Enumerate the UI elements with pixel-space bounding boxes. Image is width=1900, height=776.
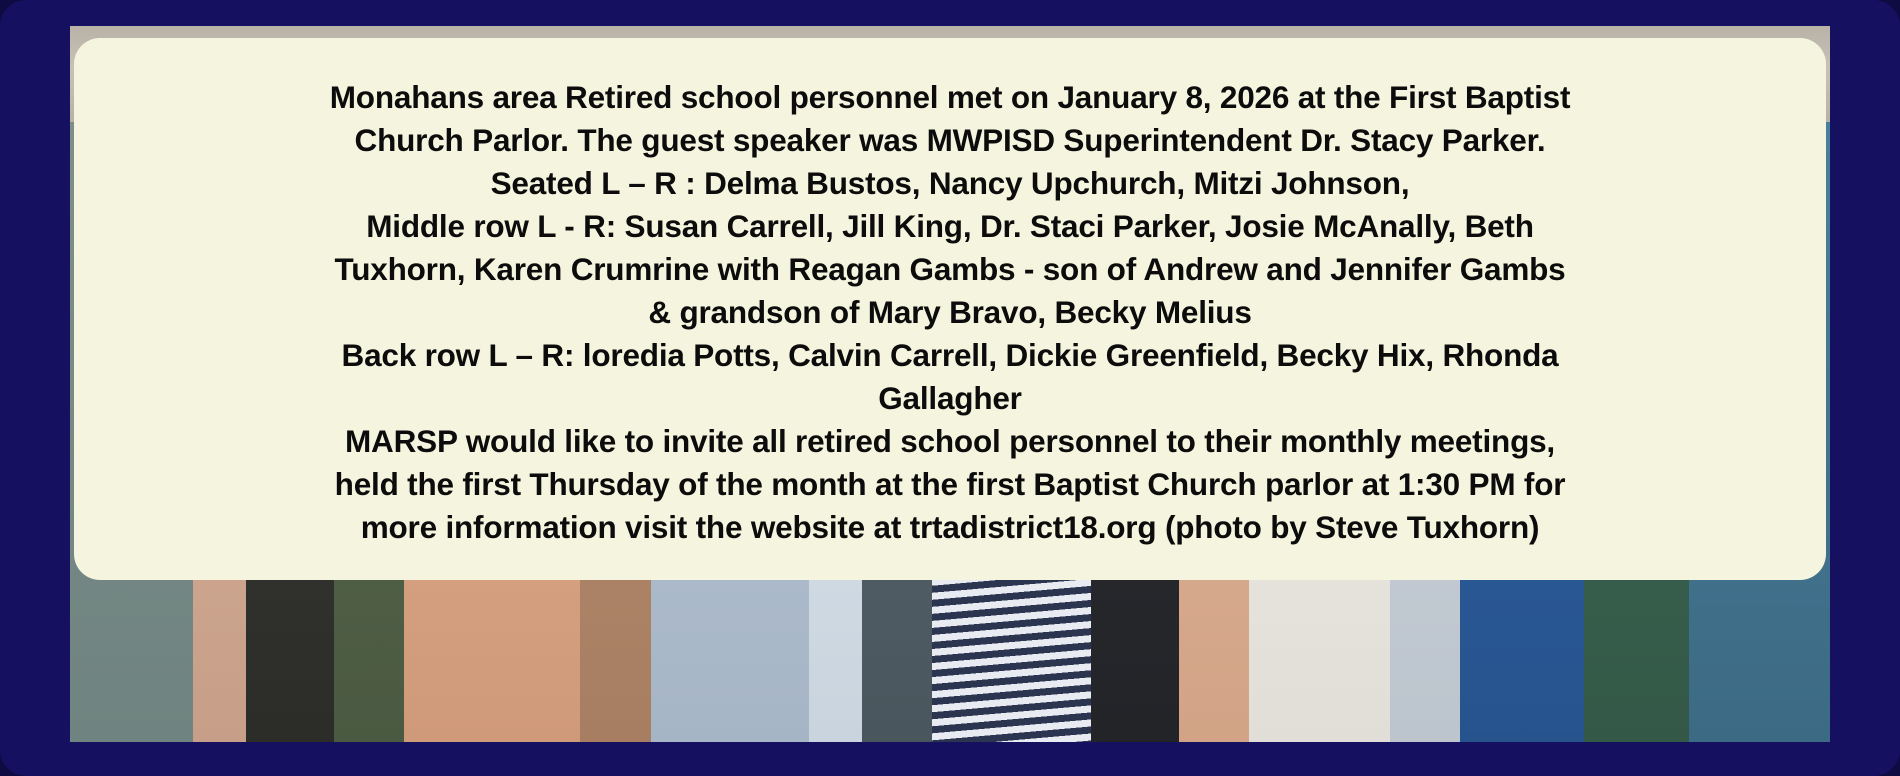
announcement-line: & grandson of Mary Bravo, Becky Melius	[100, 291, 1800, 334]
announcement-line: Monahans area Retired school personnel m…	[100, 76, 1800, 119]
announcement-text: Monahans area Retired school personnel m…	[100, 76, 1800, 549]
announcement-line: Back row L – R: loredia Potts, Calvin Ca…	[100, 334, 1800, 377]
announcement-line: Middle row L - R: Susan Carrell, Jill Ki…	[100, 205, 1800, 248]
announcement-card: Monahans area Retired school personnel m…	[74, 38, 1826, 580]
poster-frame: Monahans area Retired school personnel m…	[0, 0, 1900, 776]
announcement-line: more information visit the website at tr…	[100, 506, 1800, 549]
announcement-line: MARSP would like to invite all retired s…	[100, 420, 1800, 463]
announcement-line: Church Parlor. The guest speaker was MWP…	[100, 119, 1800, 162]
announcement-line: Seated L – R : Delma Bustos, Nancy Upchu…	[100, 162, 1800, 205]
announcement-line: Tuxhorn, Karen Crumrine with Reagan Gamb…	[100, 248, 1800, 291]
announcement-line: Gallagher	[100, 377, 1800, 420]
announcement-line: held the first Thursday of the month at …	[100, 463, 1800, 506]
